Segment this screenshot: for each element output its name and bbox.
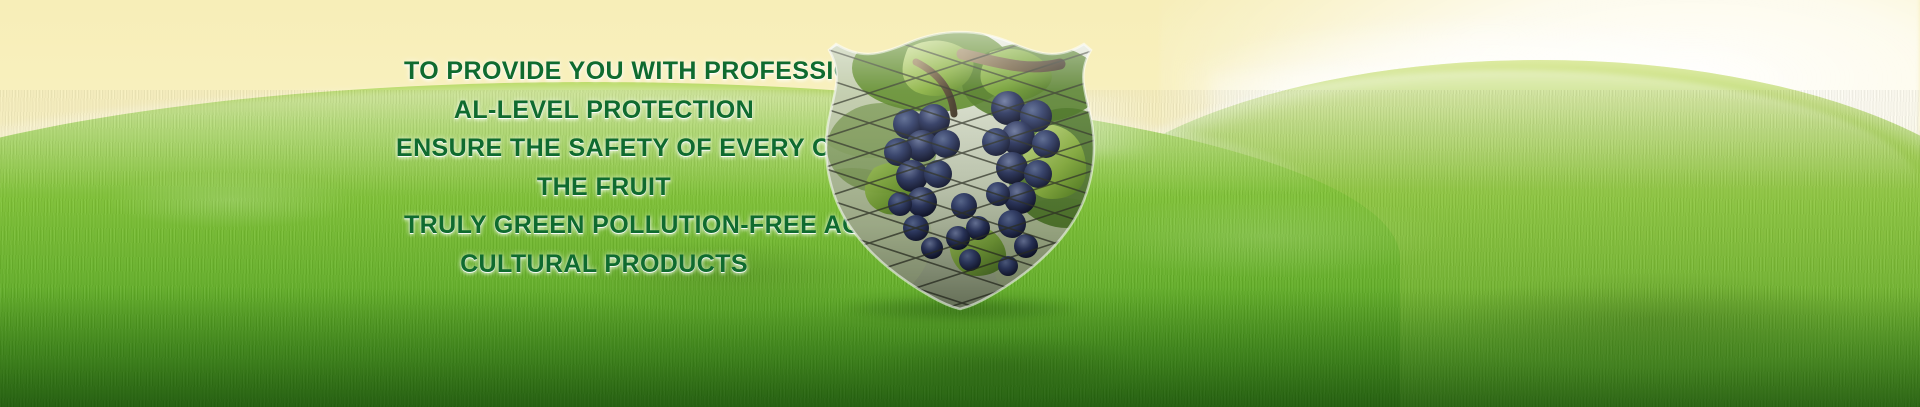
hero-banner: TO PROVIDE YOU WITH PROFESSION- AL-LEVEL… — [0, 0, 1920, 407]
headline: TO PROVIDE YOU WITH PROFESSION- AL-LEVEL… — [404, 52, 804, 283]
shield-emblem-image — [812, 28, 1108, 312]
headline-line-3: ENSURE THE SAFETY OF EVERY ONE OF — [396, 129, 804, 168]
headline-line-6: CULTURAL PRODUCTS — [404, 245, 804, 284]
headline-line-5: TRULY GREEN POLLUTION-FREE AGRI- — [404, 206, 804, 245]
headline-line-4: THE FRUIT — [404, 168, 804, 207]
headline-line-1: TO PROVIDE YOU WITH PROFESSION- — [404, 52, 804, 91]
headline-line-2: AL-LEVEL PROTECTION — [404, 91, 804, 130]
shield-photo-content — [812, 28, 1108, 312]
